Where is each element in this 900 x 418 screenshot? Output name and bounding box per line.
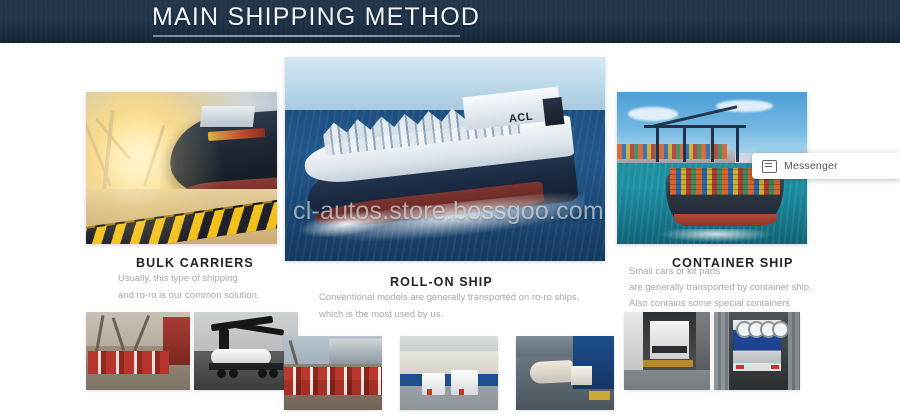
roll-on-ship-title: ROLL-ON SHIP bbox=[390, 275, 493, 289]
ship-funnel bbox=[543, 97, 565, 126]
description-line: Small cars or kit parts bbox=[629, 264, 812, 280]
ship-hull bbox=[329, 339, 382, 364]
wheel bbox=[269, 369, 278, 378]
messenger-widget[interactable]: Messenger bbox=[752, 153, 900, 179]
description-line: which is the most used by us. bbox=[319, 306, 579, 323]
wheel bbox=[258, 369, 267, 378]
crane-leg bbox=[683, 125, 686, 162]
loading-ramp bbox=[643, 360, 693, 366]
crane-beam bbox=[644, 125, 747, 128]
truck-grille bbox=[652, 346, 686, 352]
page-title: MAIN SHIPPING METHOD bbox=[152, 3, 480, 32]
ship-hull-red-band bbox=[674, 214, 777, 226]
bulk-carriers-thumbnail-1[interactable] bbox=[86, 312, 190, 390]
bulk-carriers-hero-image[interactable] bbox=[86, 92, 277, 244]
description-line: Conventional models are generally transp… bbox=[319, 289, 579, 306]
roll-on-ship-description: Conventional models are generally transp… bbox=[319, 289, 579, 323]
description-line: are generally transported by container s… bbox=[629, 280, 812, 296]
white-truck bbox=[650, 321, 690, 358]
bulk-carriers-description: Usually, this type of shipping and ro-ro… bbox=[118, 270, 260, 304]
cement-mixer-drum bbox=[529, 360, 573, 384]
container-wall-ribs bbox=[788, 312, 800, 390]
container-door bbox=[624, 312, 643, 370]
container-ship-thumbnail-2[interactable] bbox=[714, 312, 800, 390]
fire-truck-row bbox=[88, 351, 169, 374]
crane-leg bbox=[736, 125, 739, 162]
wheel bbox=[229, 369, 238, 378]
container-door bbox=[696, 312, 710, 370]
container-wall-ribs bbox=[714, 312, 729, 390]
truck-marking bbox=[427, 389, 432, 395]
tail-light bbox=[736, 365, 744, 369]
ship-wake bbox=[659, 229, 773, 243]
ramp-wall bbox=[400, 374, 498, 386]
container-ship-description: Small cars or kit parts are generally tr… bbox=[629, 264, 812, 312]
truck-marking bbox=[459, 389, 464, 395]
roll-on-ship-thumbnail-3[interactable] bbox=[516, 336, 614, 410]
description-line: and ro-ro is our common solution. bbox=[118, 287, 260, 304]
bulk-carriers-thumbnail-2[interactable] bbox=[194, 312, 298, 390]
roll-on-ship-thumbnail-1[interactable] bbox=[284, 336, 382, 410]
description-line: Usually, this type of shipping bbox=[118, 270, 260, 287]
roll-on-ship-hero-image[interactable]: ACL cl-autos.store.bossgoo.com bbox=[285, 57, 605, 261]
container-ship-thumbnail-1[interactable] bbox=[624, 312, 710, 390]
message-icon bbox=[762, 160, 777, 173]
roll-on-ship-thumbnail-2[interactable] bbox=[400, 336, 498, 410]
tail-light bbox=[771, 365, 779, 369]
site-watermark: cl-autos.store.bossgoo.com bbox=[293, 197, 597, 226]
wheel bbox=[217, 369, 226, 378]
yellow-machine bbox=[589, 391, 611, 400]
sun-glow bbox=[86, 92, 277, 244]
crane-leg bbox=[711, 125, 714, 162]
white-truck bbox=[422, 373, 446, 395]
crane-leg bbox=[656, 125, 659, 162]
truck-cab bbox=[571, 366, 593, 385]
description-line: Also contains some special containers bbox=[629, 296, 812, 312]
title-underline bbox=[153, 35, 460, 37]
page-header: MAIN SHIPPING METHOD bbox=[0, 0, 900, 43]
messenger-label: Messenger bbox=[784, 160, 838, 172]
fire-truck-row bbox=[284, 380, 382, 395]
shipping-method-page: MAIN SHIPPING METHOD ACL cl-autos.store.… bbox=[0, 0, 900, 418]
white-truck bbox=[451, 370, 478, 395]
bulk-carriers-title: BULK CARRIERS bbox=[136, 256, 254, 270]
gantry-crane-icon bbox=[644, 113, 747, 162]
